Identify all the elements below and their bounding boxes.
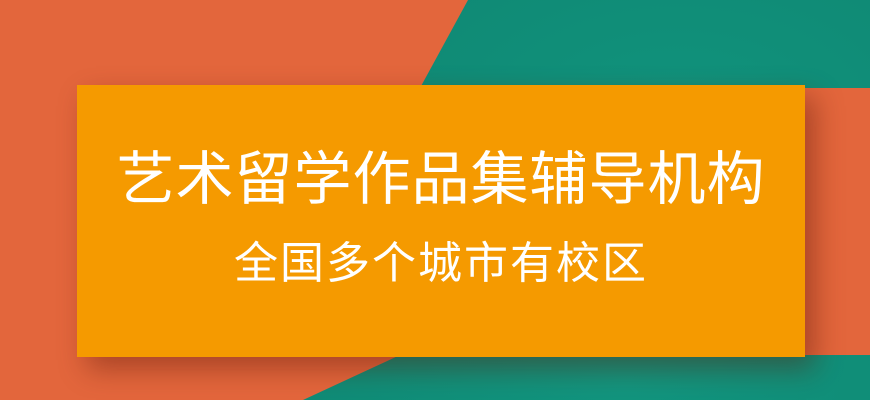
promo-banner: 艺术留学作品集辅导机构 全国多个城市有校区	[0, 0, 870, 400]
banner-title: 艺术留学作品集辅导机构	[116, 145, 765, 213]
banner-subtitle: 全国多个城市有校区	[234, 238, 648, 291]
promo-card: 艺术留学作品集辅导机构 全国多个城市有校区	[77, 85, 805, 357]
